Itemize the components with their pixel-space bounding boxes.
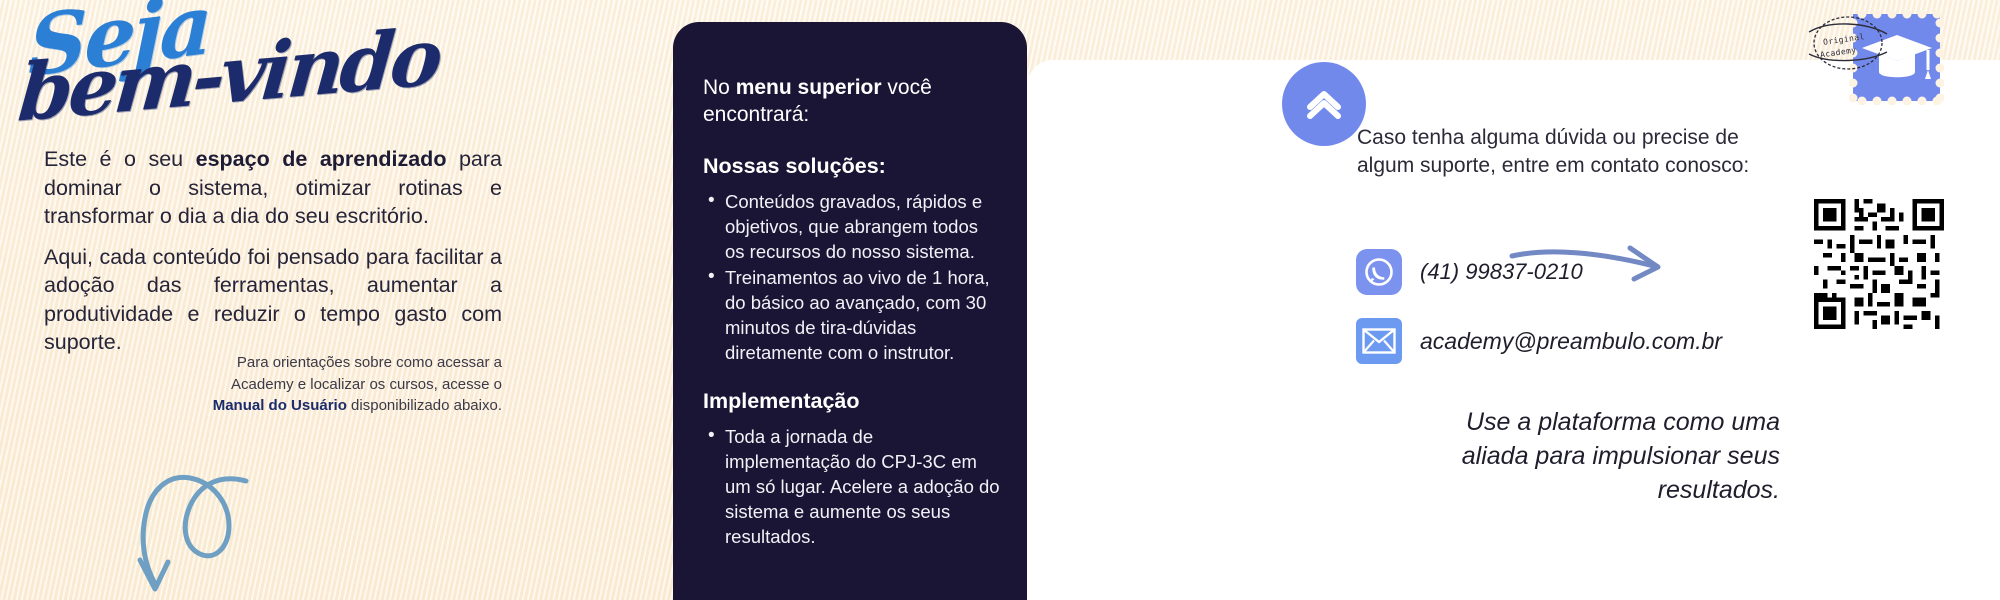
envelope-glyph [1362,328,1396,354]
whatsapp-glyph [1362,255,1396,289]
stamp-word-original: Original [1823,32,1866,47]
curved-down-arrow-icon [128,448,288,600]
contact-row-email[interactable]: academy@preambulo.com.br [1356,318,1722,364]
list-item: Conteúdos gravados, rápidos e objetivos,… [703,189,1001,264]
left-column: Seja bem-vindo Este é o seu espaço de ap… [0,0,530,600]
intro-paragraphs: Este é o seu espaço de aprendizado para … [44,145,502,369]
intro-p1-bold: espaço de aprendizado [196,147,447,171]
panel-lead-prefix: No [703,76,736,99]
panel-lead-bold: menu superior [736,76,882,99]
solutions-panel: No menu superior você encontrará: Nossas… [673,22,1027,600]
footnote-suffix: disponibilizado abaixo. [347,397,502,414]
manual-footnote: Para orientações sobre como acessar a Ac… [200,352,502,417]
intro-p2-text: Aqui, cada conteúdo foi pensado para fac… [44,245,502,355]
panel-lead-text: No menu superior você encontrará: [703,74,1001,128]
list-item: Toda a jornada de implementação do CPJ-3… [703,424,1001,549]
welcome-script-heading: Seja bem-vindo [0,0,390,113]
contact-intro-text: Caso tenha alguma dúvida ou precise de a… [1357,124,1777,180]
email-address: academy@preambulo.com.br [1420,328,1722,355]
slide-canvas: Seja bem-vindo Este é o seu espaço de ap… [0,0,2000,600]
solutions-list: Conteúdos gravados, rápidos e objetivos,… [703,189,1001,365]
panel-heading-implementation: Implementação [703,389,1001,414]
right-arrow-icon [1508,238,1668,288]
chevron-glyph [1301,81,1347,127]
envelope-icon [1356,318,1402,364]
footnote-prefix: Para orientações sobre como acessar a Ac… [231,354,502,393]
list-item: Treinamentos ao vivo de 1 hora, do básic… [703,265,1001,365]
implementation-list: Toda a jornada de implementação do CPJ-3… [703,424,1001,549]
whatsapp-icon [1356,249,1402,295]
footnote-manual-link[interactable]: Manual do Usuário [213,397,347,414]
closing-note-text: Use a plataforma como uma aliada para im… [1430,405,1780,507]
intro-paragraph-1: Este é o seu espaço de aprendizado para … [44,145,502,231]
stamp-word-academy: Academy [1820,46,1857,60]
stamp-text-group: Original Academy [1803,8,1893,78]
intro-p1-prefix: Este é o seu [44,147,196,171]
qr-code-icon[interactable] [1814,199,1944,329]
intro-paragraph-2: Aqui, cada conteúdo foi pensado para fac… [44,243,502,357]
panel-heading-solutions: Nossas soluções: [703,154,1001,179]
double-chevron-up-icon[interactable] [1282,62,1366,146]
